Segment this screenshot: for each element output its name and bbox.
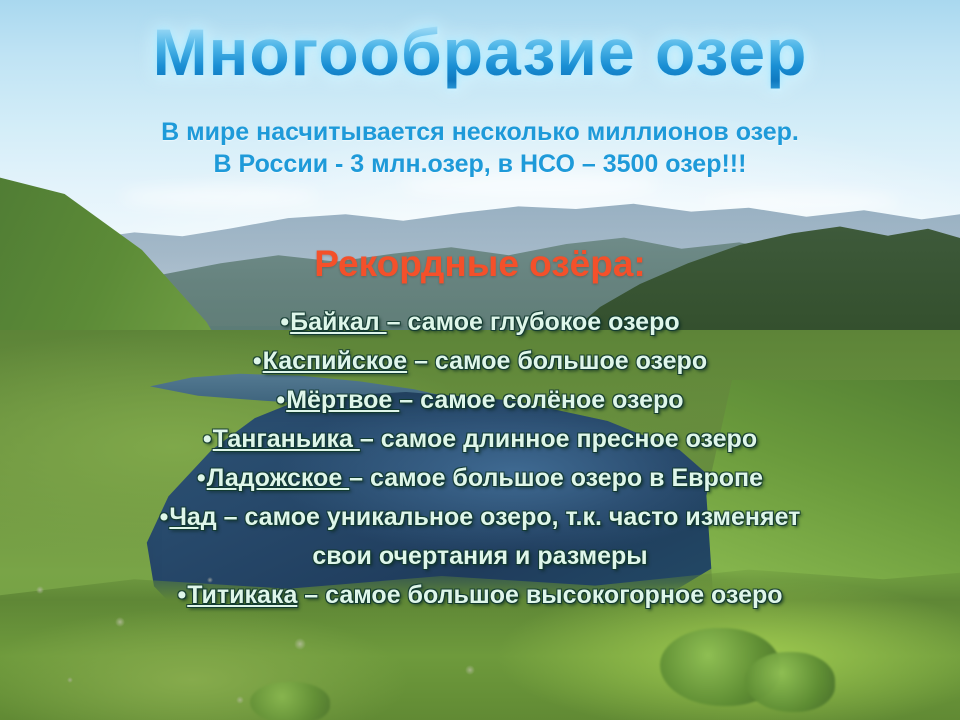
list-item: •Титикака – самое большое высокогорное о… bbox=[0, 576, 960, 615]
slide-title: Многообразие озер bbox=[0, 14, 960, 90]
lake-description: – самое длинное пресное озеро bbox=[360, 425, 757, 453]
lake-name: Танганьика bbox=[213, 425, 360, 453]
record-lakes-list: •Байкал – самое глубокое озеро •Каспийск… bbox=[0, 303, 960, 615]
list-item: •Байкал – самое глубокое озеро bbox=[0, 303, 960, 342]
presentation-slide: Многообразие озер В мире насчитывается н… bbox=[0, 0, 960, 720]
subtitle-line-2: В России - 3 млн.озер, в НСО – 3500 озер… bbox=[0, 148, 960, 180]
lake-description: – самое большое озеро bbox=[407, 347, 707, 375]
lake-description: – самое уникальное озеро, т.к. часто изм… bbox=[217, 503, 801, 531]
bullet-marker-icon: • bbox=[280, 308, 289, 336]
bullet-marker-icon: • bbox=[197, 464, 206, 492]
list-item: •Чад – самое уникальное озеро, т.к. част… bbox=[0, 498, 960, 537]
lake-name: Чад bbox=[169, 503, 216, 531]
lake-name: Байкал bbox=[290, 308, 386, 336]
bullet-marker-icon: • bbox=[177, 581, 186, 609]
slide-subtitle: В мире насчитывается несколько миллионов… bbox=[0, 116, 960, 180]
list-item: •Мёртвое – самое солёное озеро bbox=[0, 381, 960, 420]
section-heading: Рекордные озёра: bbox=[0, 243, 960, 285]
list-item: •Танганьика – самое длинное пресное озер… bbox=[0, 420, 960, 459]
list-item: •Ладожское – самое большое озеро в Европ… bbox=[0, 459, 960, 498]
shrub-bush bbox=[745, 652, 835, 712]
lake-description: – самое глубокое озеро bbox=[387, 308, 680, 336]
lake-name: Ладожское bbox=[207, 464, 349, 492]
bullet-marker-icon: • bbox=[203, 425, 212, 453]
lake-description: – самое большое озеро в Европе bbox=[349, 464, 763, 492]
lake-name: Титикака bbox=[187, 581, 297, 609]
bullet-marker-icon: • bbox=[160, 503, 169, 531]
lake-name: Мёртвое bbox=[286, 386, 399, 414]
shrub-bush bbox=[250, 682, 330, 720]
bullet-marker-icon: • bbox=[276, 386, 285, 414]
lake-description: – самое большое высокогорное озеро bbox=[297, 581, 782, 609]
lake-name: Каспийское bbox=[263, 347, 407, 375]
list-item: •Каспийское – самое большое озеро bbox=[0, 342, 960, 381]
list-item-continuation: свои очертания и размеры bbox=[0, 537, 960, 576]
bullet-marker-icon: • bbox=[253, 347, 262, 375]
cloud-shape bbox=[120, 186, 320, 208]
subtitle-line-1: В мире насчитывается несколько миллионов… bbox=[0, 116, 960, 148]
lake-description: – самое солёное озеро bbox=[399, 386, 683, 414]
